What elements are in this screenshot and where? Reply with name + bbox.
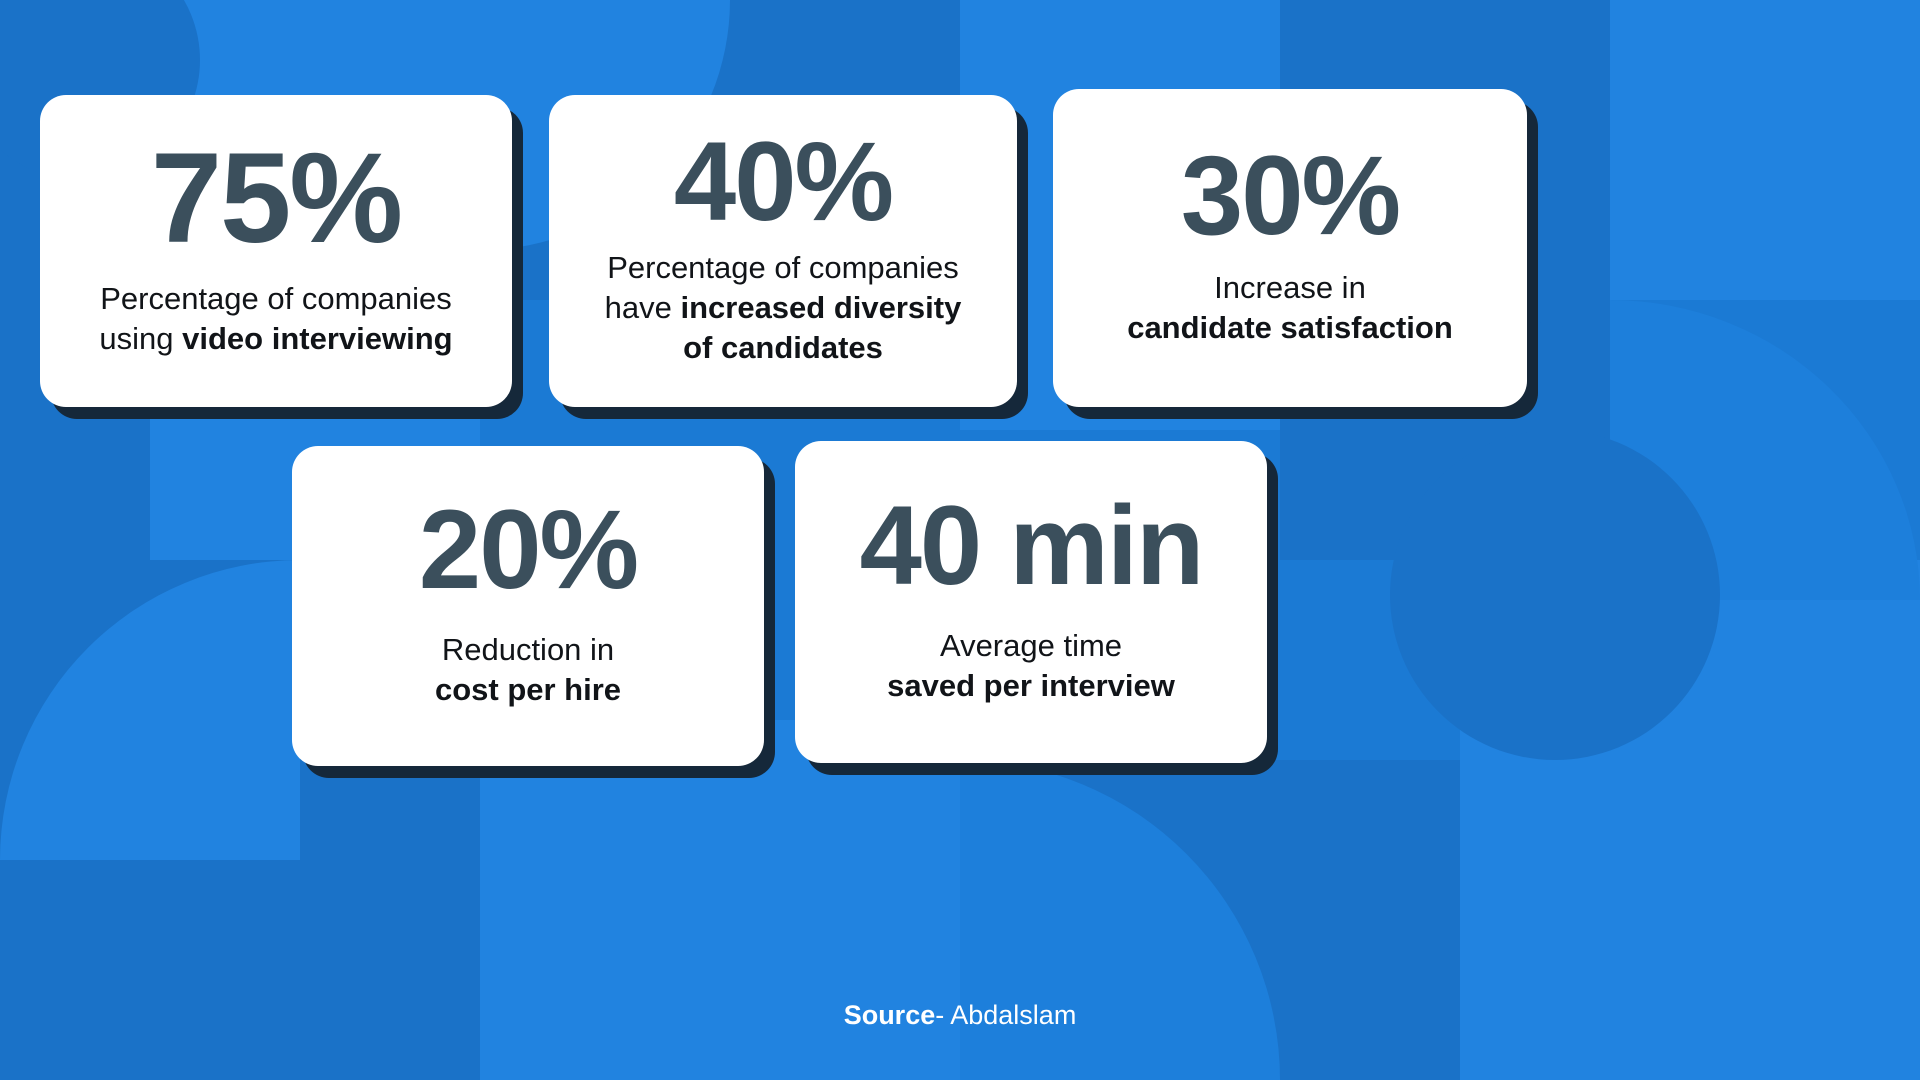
bg-circle (1390, 430, 1720, 760)
caption-line: Percentage of companies (99, 279, 452, 319)
caption-line: candidate satisfaction (1127, 308, 1453, 348)
source-attribution: Source- Abdalslam (0, 1000, 1920, 1031)
source-name: Abdalslam (950, 1000, 1076, 1030)
stat-caption: Average timesaved per interview (887, 626, 1175, 705)
caption-text: Increase in (1214, 270, 1366, 305)
infographic-canvas: 75% Percentage of companiesusing video i… (0, 0, 1920, 1080)
stat-caption: Increase incandidate satisfaction (1127, 268, 1453, 347)
caption-text: Reduction in (442, 632, 614, 667)
stat-value: 75% (151, 135, 401, 263)
caption-line: Percentage of companies (605, 248, 962, 288)
caption-emphasis: candidate satisfaction (1127, 310, 1453, 345)
stat-card-video-interviewing[interactable]: 75% Percentage of companiesusing video i… (40, 95, 512, 407)
caption-emphasis: of candidates (683, 330, 883, 365)
caption-line: cost per hire (435, 670, 621, 710)
caption-line: of candidates (605, 328, 962, 368)
caption-text: using (99, 321, 182, 356)
caption-text: Percentage of companies (100, 281, 452, 316)
stat-value: 20% (419, 494, 637, 606)
bg-block (1610, 0, 1920, 300)
caption-emphasis: saved per interview (887, 668, 1175, 703)
caption-text: Average time (940, 628, 1122, 663)
caption-emphasis: video interviewing (182, 321, 452, 356)
stat-caption: Percentage of companiesusing video inter… (99, 279, 452, 358)
stat-value: 40 min (860, 490, 1203, 602)
stat-caption: Reduction incost per hire (435, 630, 621, 709)
stat-card-candidate-satisfaction[interactable]: 30% Increase incandidate satisfaction (1053, 89, 1527, 407)
caption-line: saved per interview (887, 666, 1175, 706)
caption-emphasis: increased diversity (680, 290, 961, 325)
caption-emphasis: cost per hire (435, 672, 621, 707)
caption-text: Percentage of companies (607, 250, 959, 285)
caption-text: have (605, 290, 681, 325)
stat-card-cost-per-hire[interactable]: 20% Reduction incost per hire (292, 446, 764, 766)
stat-card-increased-diversity[interactable]: 40% Percentage of companieshave increase… (549, 95, 1017, 407)
caption-line: have increased diversity (605, 288, 962, 328)
stat-caption: Percentage of companieshave increased di… (605, 248, 962, 367)
caption-line: Reduction in (435, 630, 621, 670)
caption-line: Average time (887, 626, 1175, 666)
source-label: Source (844, 1000, 936, 1030)
source-separator: - (935, 1000, 950, 1030)
caption-line: using video interviewing (99, 319, 452, 359)
caption-line: Increase in (1127, 268, 1453, 308)
stat-value: 40% (674, 126, 892, 238)
stat-card-time-saved[interactable]: 40 min Average timesaved per interview (795, 441, 1267, 763)
stat-value: 30% (1181, 140, 1399, 252)
